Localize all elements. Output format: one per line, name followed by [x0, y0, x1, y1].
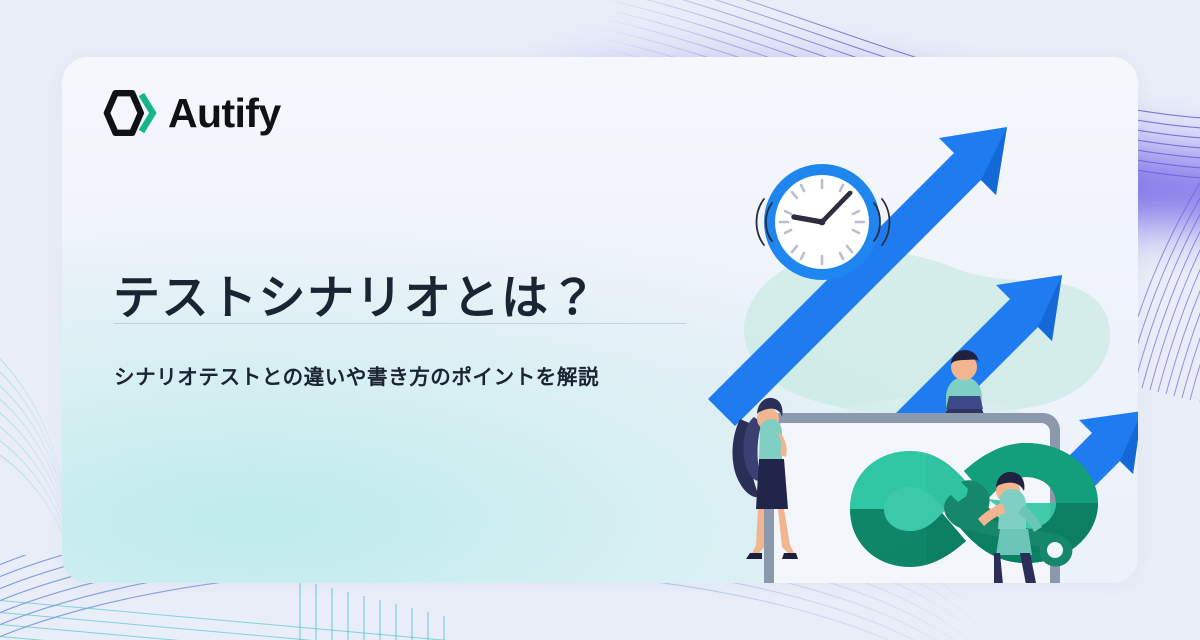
hero-card: Autify テストシナリオとは？ シナリオテストとの違いや書き方のポイントを解… — [62, 57, 1138, 583]
title-divider — [114, 323, 686, 324]
poster-canvas: Autify テストシナリオとは？ シナリオテストとの違いや書き方のポイントを解… — [0, 0, 1200, 640]
autify-wordmark: Autify — [168, 93, 281, 134]
hero-card-inner: Autify テストシナリオとは？ シナリオテストとの違いや書き方のポイントを解… — [62, 57, 1138, 583]
page-title: テストシナリオとは？ — [113, 270, 598, 325]
autify-logo[interactable]: Autify — [102, 90, 281, 136]
devops-testing-illustration — [702, 117, 1138, 567]
page-subtitle: シナリオテストとの違いや書き方のポイントを解説 — [114, 364, 599, 393]
autify-hexagon-chevron-icon — [102, 90, 158, 136]
